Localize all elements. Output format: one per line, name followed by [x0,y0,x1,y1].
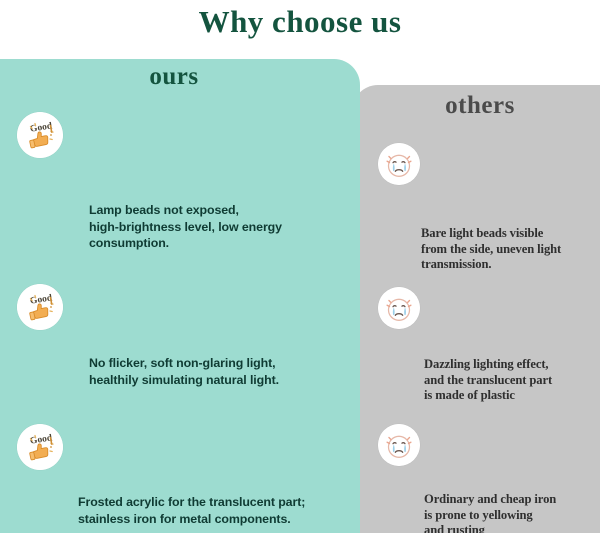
badge-good-2: Good [17,284,63,330]
ours-caption-2: No flicker, soft non-glaring light, heal… [89,355,351,388]
thumbs-up-good-icon: Good [17,284,63,330]
page-title: Why choose us [0,2,600,42]
badge-sad-3 [378,424,420,466]
badge-sad-1 [378,143,420,185]
why-choose-us-infographic: Why choose us ours others Good Lamp bead… [0,0,600,533]
others-caption-2: Dazzling lighting effect, and the transl… [424,357,599,404]
others-column-heading: others [362,92,598,120]
badge-sad-2 [378,287,420,329]
thumbs-up-good-icon: Good [17,424,63,470]
thumbs-up-good-icon: Good [17,112,63,158]
badge-good-3: Good [17,424,63,470]
crying-face-icon [378,143,420,185]
others-caption-3: Ordinary and cheap iron is prone to yell… [424,492,599,533]
badge-good-1: Good [17,112,63,158]
crying-face-icon [378,287,420,329]
crying-face-icon [378,424,420,466]
ours-caption-3: Frosted acrylic for the translucent part… [78,494,353,527]
ours-column-heading: ours [0,63,348,91]
ours-caption-1: Lamp beads not exposed, high-brightness … [89,202,351,252]
others-caption-1: Bare light beads visible from the side, … [421,226,596,273]
